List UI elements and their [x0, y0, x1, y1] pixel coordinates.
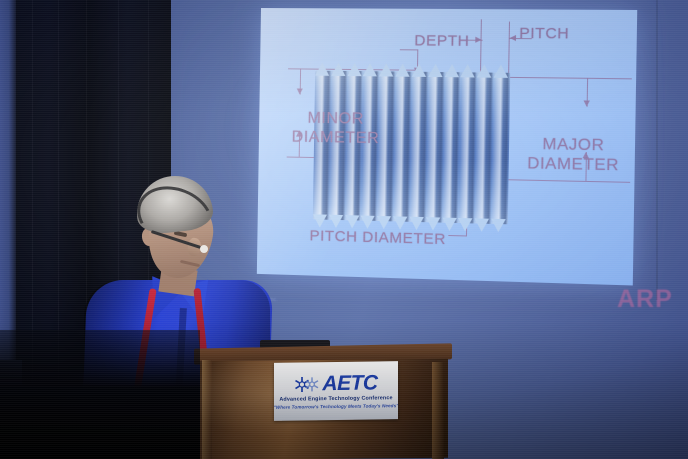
conference-presentation-scene: DEPTH PITCH MINOR DIAMETER MAJOR DIAMETE…: [0, 0, 688, 459]
scene-vignette: [0, 0, 688, 459]
